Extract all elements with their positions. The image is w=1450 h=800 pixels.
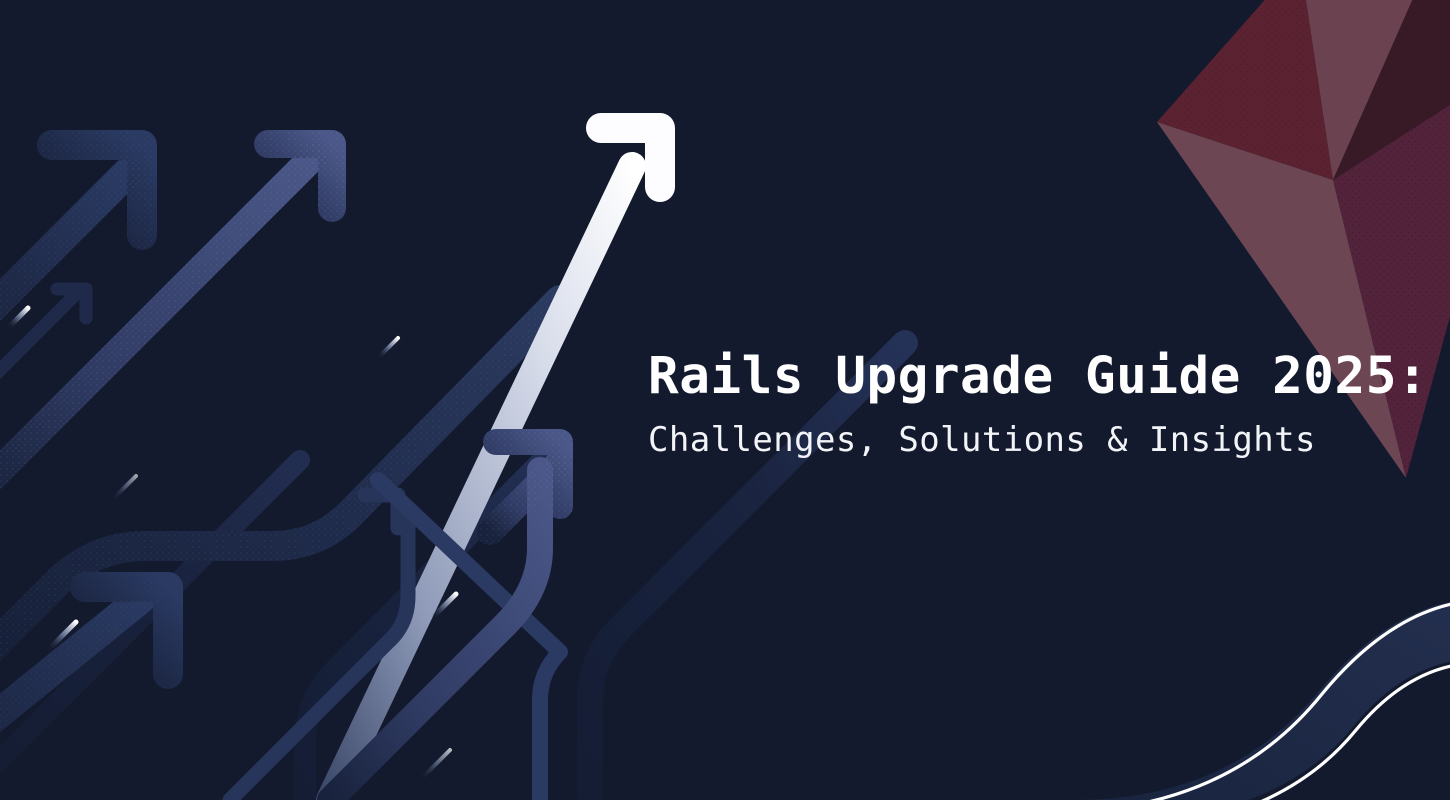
hero-banner: Rails Upgrade Guide 2025: Challenges, So… [0, 0, 1450, 800]
hero-text-block: Rails Upgrade Guide 2025: Challenges, So… [648, 348, 1348, 460]
page-title: Rails Upgrade Guide 2025: [648, 348, 1348, 405]
page-subtitle: Challenges, Solutions & Insights [648, 421, 1348, 460]
